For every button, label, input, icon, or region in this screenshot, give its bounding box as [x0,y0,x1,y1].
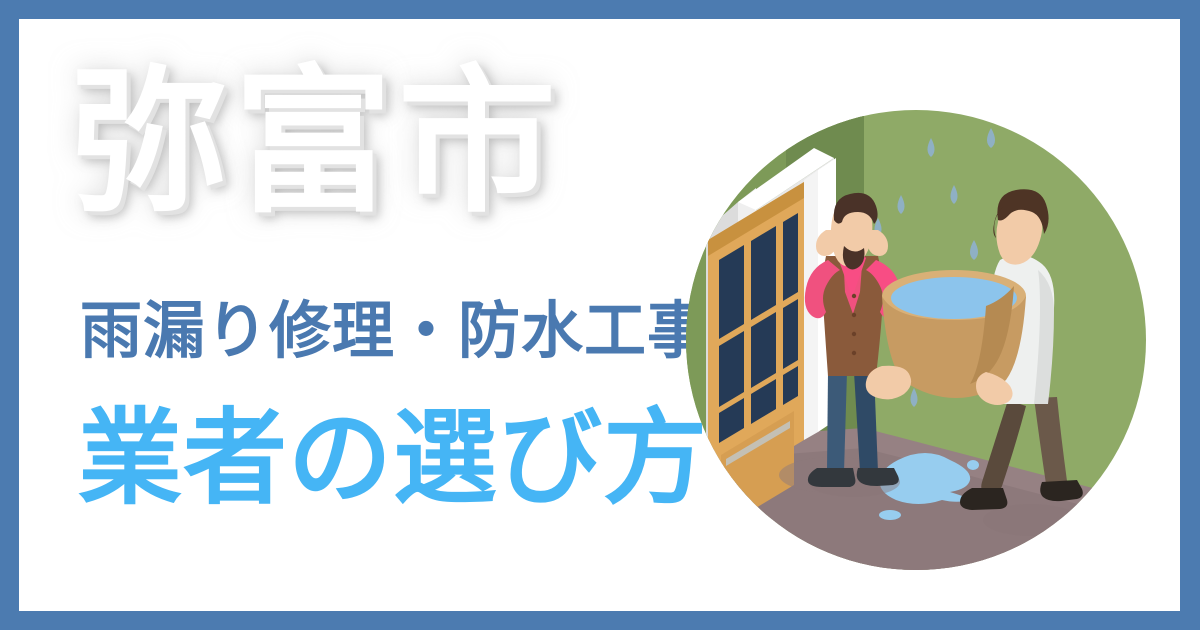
homeowner-shoe-left [808,468,856,487]
headline: 業者の選び方 [78,407,708,511]
homeowner-shoe-right [857,468,899,486]
text-block: 弥富市 雨漏り修理・防水工事 業者の選び方 [58,19,748,611]
homeowner-leg-left [827,372,847,472]
banner-frame: 弥富市 雨漏り修理・防水工事 業者の選び方 [0,0,1200,630]
roof-leak-illustration [686,110,1146,570]
worker-shoe-front [1040,480,1083,501]
banner-card: 弥富市 雨漏り修理・防水工事 業者の選び方 [19,19,1180,611]
puddle-splash [967,460,979,470]
bucket [866,270,1026,405]
worker-shoe-back [960,488,1007,510]
illustration-svg [686,110,1146,570]
puddle-droplet [879,510,901,520]
city-title: 弥富市 [70,64,562,222]
subtitle: 雨漏り修理・防水工事 [80,301,710,363]
